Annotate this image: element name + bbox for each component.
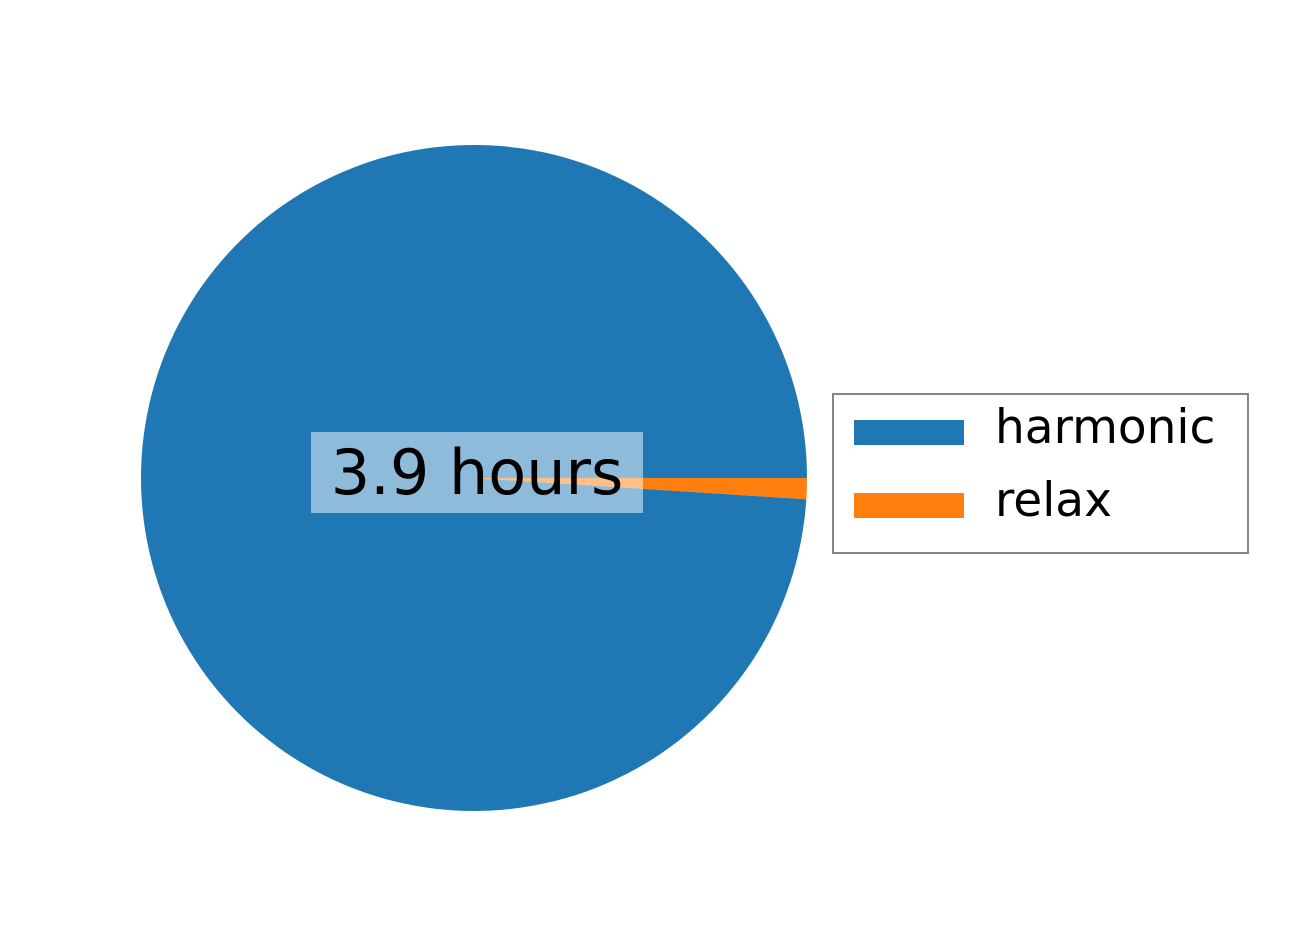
pie-slice-label-harmonic: 3.9 hours — [311, 432, 643, 513]
legend-label-harmonic: harmonic — [995, 404, 1215, 451]
legend-label-relax: relax — [995, 477, 1112, 524]
pie-slice-label-harmonic-text: 3.9 hours — [331, 442, 624, 504]
figure-canvas: 3.9 hours harmonic relax — [0, 0, 1307, 951]
legend-swatch-relax — [854, 493, 964, 518]
legend-swatch-harmonic — [854, 420, 964, 445]
chart-legend: harmonic relax — [832, 393, 1249, 554]
